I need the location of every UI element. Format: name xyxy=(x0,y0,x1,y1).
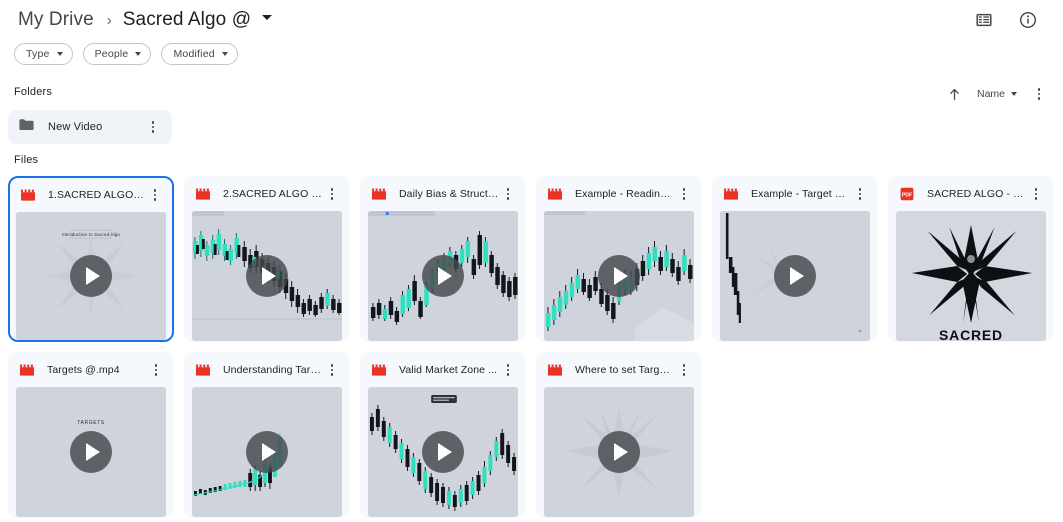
thumbnail-caption: TARGETS xyxy=(77,420,104,426)
chevron-down-icon xyxy=(222,52,228,56)
file-name: 2.SACRED ALGO - V... xyxy=(223,188,323,200)
file-card-header: Daily Bias & Structu... xyxy=(361,177,525,211)
file-card[interactable]: Daily Bias & Structu... xyxy=(360,176,526,342)
file-thumbnail[interactable]: Introduction to Sacred Algo xyxy=(16,212,166,340)
file-card[interactable]: 1.SACRED ALGO - V... xyxy=(8,176,174,342)
folder-name: New Video xyxy=(48,121,144,133)
file-card-header: Valid Market Zone ... xyxy=(361,353,525,387)
folders-section-label: Folders xyxy=(14,86,52,98)
kebab-glyph xyxy=(155,364,158,376)
file-card[interactable]: 2.SACRED ALGO - V... xyxy=(184,176,350,342)
file-name: Where to set Target... xyxy=(575,364,675,376)
file-card[interactable]: Valid Market Zone ... xyxy=(360,352,526,518)
chevron-down-icon xyxy=(135,52,141,56)
filter-chip-type-label: Type xyxy=(26,48,50,60)
video-file-icon xyxy=(20,187,36,203)
video-file-icon xyxy=(195,186,211,202)
kebab-glyph xyxy=(152,121,155,133)
video-file-icon xyxy=(371,362,387,378)
file-card[interactable]: PDF SACRED ALGO - O... xyxy=(888,176,1054,342)
svg-text:PDF: PDF xyxy=(902,192,912,198)
file-name: 1.SACRED ALGO - V... xyxy=(48,189,146,201)
kebab-glyph xyxy=(331,364,334,376)
video-file-icon xyxy=(723,186,739,202)
breadcrumb-caret-icon[interactable] xyxy=(262,15,272,20)
file-name: Understanding Targ... xyxy=(223,364,323,376)
chevron-down-icon xyxy=(1011,92,1017,96)
file-thumbnail[interactable] xyxy=(368,211,518,341)
file-more-options-icon[interactable] xyxy=(851,183,869,205)
folder-more-options-icon[interactable] xyxy=(144,116,162,138)
file-card[interactable]: Example - Target & ... xyxy=(712,176,878,342)
file-name: Example - Reading ... xyxy=(575,188,675,200)
kebab-glyph xyxy=(154,189,157,201)
file-thumbnail[interactable] xyxy=(368,387,518,517)
filter-chip-people[interactable]: People xyxy=(83,43,152,65)
kebab-glyph xyxy=(1038,88,1041,100)
top-header: My Drive › Sacred Algo @ xyxy=(0,0,1063,40)
file-card-header: 2.SACRED ALGO - V... xyxy=(185,177,349,211)
kebab-glyph xyxy=(507,364,510,376)
file-name: Daily Bias & Structu... xyxy=(399,188,499,200)
filter-chip-people-label: People xyxy=(95,48,129,60)
kebab-glyph xyxy=(331,188,334,200)
header-actions xyxy=(969,5,1049,35)
files-section-label: Files xyxy=(14,154,38,166)
file-more-options-icon[interactable] xyxy=(675,359,693,381)
file-more-options-icon[interactable] xyxy=(323,359,341,381)
kebab-glyph xyxy=(683,188,686,200)
kebab-glyph xyxy=(859,188,862,200)
file-more-options-icon[interactable] xyxy=(146,184,164,206)
file-thumbnail[interactable] xyxy=(192,211,342,341)
file-name: Targets @.mp4 xyxy=(47,364,147,376)
file-more-options-icon[interactable] xyxy=(147,359,165,381)
file-more-options-icon[interactable] xyxy=(499,183,517,205)
filter-chip-modified-label: Modified xyxy=(173,48,214,60)
kebab-glyph xyxy=(683,364,686,376)
file-thumbnail[interactable] xyxy=(544,387,694,517)
filter-chip-type[interactable]: Type xyxy=(14,43,73,65)
breadcrumb-current-folder[interactable]: Sacred Algo @ xyxy=(121,7,253,33)
file-card-header: Example - Target & ... xyxy=(713,177,877,211)
more-options-icon[interactable] xyxy=(1027,82,1051,106)
video-file-icon xyxy=(547,362,563,378)
sort-bar: Name xyxy=(943,82,1051,106)
video-file-icon xyxy=(19,362,35,378)
sort-field-label: Name xyxy=(977,88,1005,100)
filter-chips: Type People Modified xyxy=(14,43,238,65)
file-card-header: Where to set Target... xyxy=(537,353,701,387)
file-name: Example - Target & ... xyxy=(751,188,851,200)
sort-field-selector[interactable]: Name xyxy=(973,85,1021,103)
file-card-header: Targets @.mp4 xyxy=(9,353,173,387)
file-card[interactable]: Targets @.mp4 TARGETS xyxy=(8,352,174,518)
file-name: SACRED ALGO - O... xyxy=(927,188,1027,200)
file-thumbnail[interactable]: TARGETS xyxy=(16,387,166,517)
breadcrumb-my-drive[interactable]: My Drive xyxy=(14,7,98,33)
pdf-thumbnail-title: SACRED xyxy=(939,327,1003,341)
file-card[interactable]: Example - Reading ... xyxy=(536,176,702,342)
file-card[interactable]: Understanding Targ... xyxy=(184,352,350,518)
folder-icon xyxy=(18,116,35,138)
arrow-up-icon[interactable] xyxy=(943,82,967,106)
file-card-header: PDF SACRED ALGO - O... xyxy=(889,177,1053,211)
folder-card-new-video[interactable]: New Video xyxy=(8,110,172,144)
breadcrumb-separator: › xyxy=(107,13,112,28)
file-more-options-icon[interactable] xyxy=(1027,183,1045,205)
file-thumbnail[interactable] xyxy=(544,211,694,341)
file-more-options-icon[interactable] xyxy=(499,359,517,381)
files-grid: 1.SACRED ALGO - V... xyxy=(8,176,1058,518)
file-card[interactable]: Where to set Target... xyxy=(536,352,702,518)
chevron-down-icon xyxy=(57,52,63,56)
kebab-glyph xyxy=(507,188,510,200)
file-thumbnail[interactable]: SACRED xyxy=(896,211,1046,341)
file-thumbnail[interactable] xyxy=(720,211,870,341)
file-name: Valid Market Zone ... xyxy=(399,364,499,376)
file-more-options-icon[interactable] xyxy=(675,183,693,205)
file-card-header: Example - Reading ... xyxy=(537,177,701,211)
video-file-icon xyxy=(371,186,387,202)
file-card-header: 1.SACRED ALGO - V... xyxy=(10,178,172,212)
file-card-header: Understanding Targ... xyxy=(185,353,349,387)
breadcrumb: My Drive › Sacred Algo @ xyxy=(14,7,272,33)
file-thumbnail[interactable] xyxy=(192,387,342,517)
kebab-glyph xyxy=(1035,188,1038,200)
info-icon[interactable] xyxy=(1013,5,1043,35)
video-file-icon xyxy=(547,186,563,202)
video-file-icon xyxy=(195,362,211,378)
list-view-icon[interactable] xyxy=(969,5,999,35)
file-more-options-icon[interactable] xyxy=(323,183,341,205)
filter-chip-modified[interactable]: Modified xyxy=(161,43,237,65)
pdf-file-icon: PDF xyxy=(899,186,915,202)
thumbnail-caption: Introduction to Sacred Algo xyxy=(62,232,120,237)
